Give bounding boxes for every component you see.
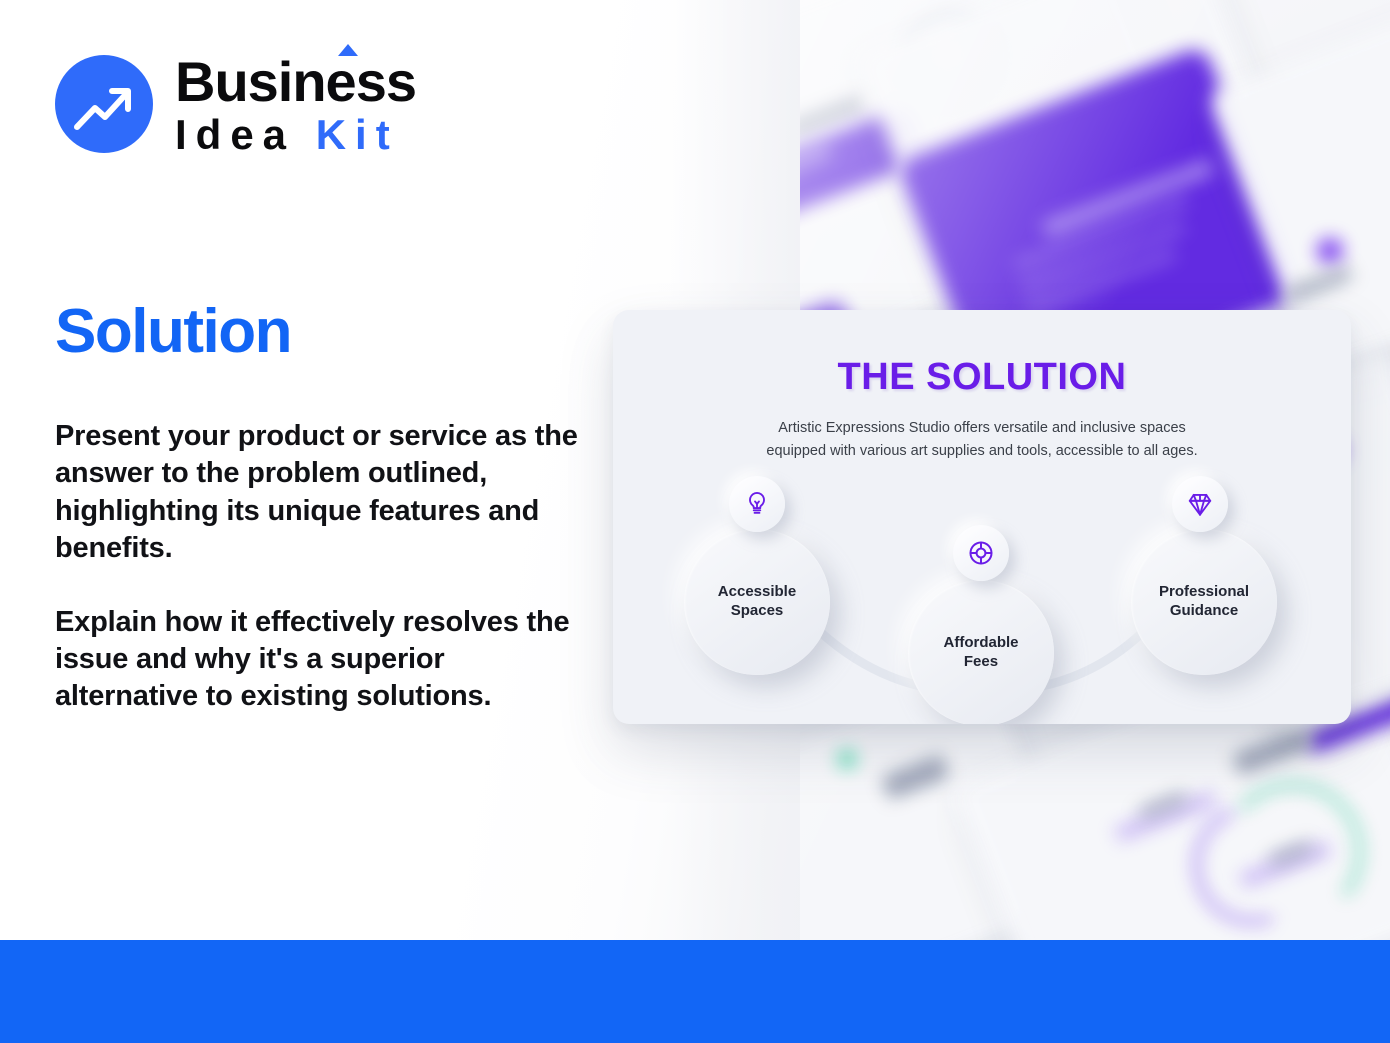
brand-name-line1-text: Business — [175, 50, 416, 113]
footer-bar — [0, 940, 1390, 1043]
brand-name-kit: Kit — [316, 111, 399, 158]
node-professional-guidance[interactable]: Professional Guidance — [1131, 529, 1277, 675]
lifebuoy-icon — [953, 525, 1009, 581]
page-title: Solution — [55, 296, 291, 367]
slide-root: Business Idea Kit Solution Present your … — [0, 0, 1390, 1043]
growth-arrow-chart-icon — [55, 55, 153, 153]
chevron-up-accent-icon — [338, 44, 358, 56]
body-text-block: Present your product or service as the a… — [55, 418, 585, 716]
solution-card: THE SOLUTION Artistic Expressions Studio… — [613, 310, 1351, 724]
node-accessible-spaces[interactable]: Accessible Spaces — [684, 529, 830, 675]
body-paragraph-2: Explain how it effectively resolves the … — [55, 604, 585, 716]
node-affordable-fees[interactable]: Affordable Fees — [908, 580, 1054, 724]
node-label: Accessible Spaces — [718, 583, 796, 621]
brand-name-line1: Business — [175, 54, 416, 110]
brand-name-line2: Idea Kit — [175, 114, 416, 156]
node-label: Professional Guidance — [1159, 583, 1249, 621]
solution-node-group: Accessible Spaces Affordable Fees — [613, 310, 1351, 724]
node-label: Affordable Fees — [944, 634, 1019, 672]
brand-logo: Business Idea Kit — [55, 52, 416, 156]
lightbulb-icon — [729, 476, 785, 532]
body-paragraph-1: Present your product or service as the a… — [55, 418, 585, 568]
diamond-icon — [1172, 476, 1228, 532]
brand-name-idea: Idea — [175, 111, 295, 158]
brand-wordmark: Business Idea Kit — [175, 52, 416, 156]
